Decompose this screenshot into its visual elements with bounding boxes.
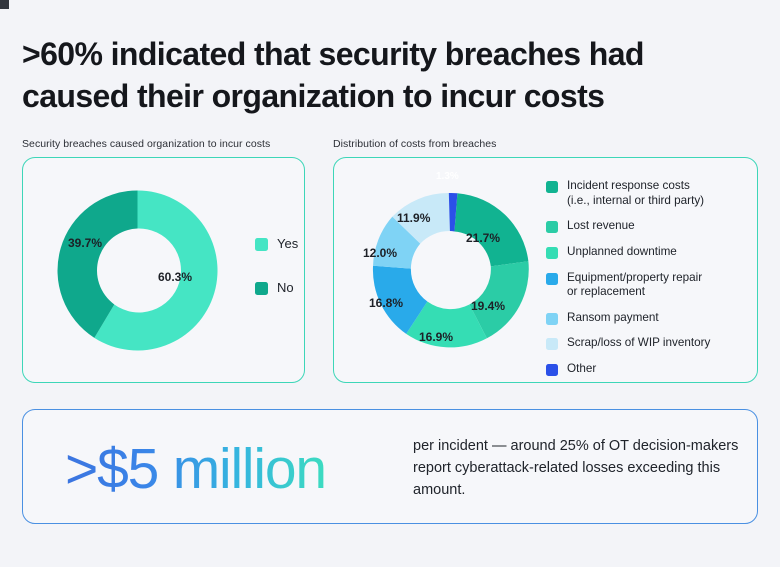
legend-swatch-ransom-payment-icon (546, 313, 558, 325)
left-chart-legend: Yes No (255, 236, 298, 297)
legend-label-lost-revenue: Lost revenue (567, 219, 635, 234)
slice-value-scrap-loss: 11.9% (397, 211, 430, 225)
cost-distribution-donut-chart: 21.7% 19.4% 16.9% 16.8% 12.0% 11.9% 1.3% (356, 176, 546, 371)
infographic-page: >60% indicated that security breaches ha… (0, 0, 780, 567)
legend-label-unplanned-downtime: Unplanned downtime (567, 245, 677, 260)
highlight-stat-description: per incident — around 25% of OT decision… (413, 435, 743, 501)
legend-label-incident-response: Incident response costs (i.e., internal … (567, 179, 704, 208)
legend-label-other: Other (567, 362, 596, 377)
corner-marker (0, 0, 9, 9)
legend-swatch-no-icon (255, 282, 268, 295)
legend-item-yes[interactable]: Yes (255, 236, 298, 252)
legend-item-lost-revenue[interactable]: Lost revenue (546, 219, 710, 234)
legend-label-no: No (277, 280, 294, 296)
legend-item-no[interactable]: No (255, 280, 298, 296)
slice-value-ransom-payment: 12.0% (363, 246, 397, 260)
slice-value-incident-response: 21.7% (466, 231, 500, 245)
page-title: >60% indicated that security breaches ha… (22, 34, 752, 117)
legend-label-ransom-payment: Ransom payment (567, 311, 659, 326)
left-chart-card: 60.3% 39.7% Yes No (22, 157, 305, 383)
donut-svg (50, 183, 225, 358)
legend-label-yes: Yes (277, 236, 298, 252)
slice-value-yes: 60.3% (158, 270, 192, 284)
slice-value-other: 1.3% (436, 171, 459, 182)
legend-item-scrap-loss[interactable]: Scrap/loss of WIP inventory (546, 336, 710, 351)
slice-value-lost-revenue: 19.4% (471, 299, 505, 313)
highlight-stat-value: >$5 million (65, 441, 326, 498)
legend-item-ransom-payment[interactable]: Ransom payment (546, 311, 710, 326)
donut-slice-incident-response[interactable] (454, 193, 528, 266)
highlight-stat-card: >$5 million per incident — around 25% of… (22, 409, 758, 524)
legend-swatch-incident-response-icon (546, 181, 558, 193)
legend-label-equipment-repair: Equipment/property repair or replacement (567, 271, 702, 300)
legend-swatch-yes-icon (255, 238, 268, 251)
left-chart-subtitle: Security breaches caused organization to… (22, 138, 270, 150)
legend-swatch-other-icon (546, 364, 558, 376)
slice-value-no: 39.7% (68, 236, 102, 250)
right-chart-card: 21.7% 19.4% 16.9% 16.8% 12.0% 11.9% 1.3%… (333, 157, 758, 383)
legend-swatch-unplanned-downtime-icon (546, 247, 558, 259)
right-chart-subtitle: Distribution of costs from breaches (333, 138, 496, 150)
legend-swatch-lost-revenue-icon (546, 221, 558, 233)
legend-item-other[interactable]: Other (546, 362, 710, 377)
slice-value-unplanned-downtime: 16.9% (419, 330, 453, 344)
legend-item-unplanned-downtime[interactable]: Unplanned downtime (546, 245, 710, 260)
legend-swatch-scrap-loss-icon (546, 338, 558, 350)
legend-label-scrap-loss: Scrap/loss of WIP inventory (567, 336, 710, 351)
slice-value-equipment-repair: 16.8% (369, 296, 403, 310)
right-chart-legend: Incident response costs (i.e., internal … (546, 179, 710, 377)
legend-item-equipment-repair[interactable]: Equipment/property repair or replacement (546, 271, 710, 300)
legend-swatch-equipment-repair-icon (546, 273, 558, 285)
legend-item-incident-response[interactable]: Incident response costs (i.e., internal … (546, 179, 710, 208)
yes-no-donut-chart: 60.3% 39.7% (50, 183, 225, 363)
